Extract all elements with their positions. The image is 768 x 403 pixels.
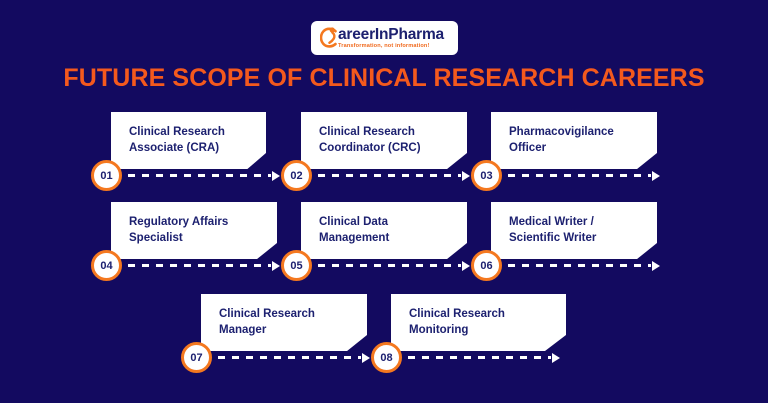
step-card[interactable]: Clinical Research Manager (201, 294, 367, 351)
infographic-canvas: areerInPharma Transformation, not inform… (0, 0, 768, 403)
arrow-head-icon (552, 353, 560, 363)
arrow-dashed-line (318, 264, 461, 267)
arrow-head-icon (362, 353, 370, 363)
arrow-dashed-line (128, 264, 271, 267)
step-card-label: Clinical Research Associate (CRA) (111, 112, 266, 157)
step-card-label: Clinical Research Coordinator (CRC) (301, 112, 467, 157)
step-arrow (318, 174, 470, 177)
page-title: FUTURE SCOPE OF CLINICAL RESEARCH CAREER… (0, 64, 768, 93)
arrow-dashed-line (218, 356, 361, 359)
step-card[interactable]: Clinical Research Monitoring (391, 294, 566, 351)
arrow-dashed-line (318, 174, 461, 177)
logo-tagline: Transformation, not information! (338, 44, 444, 50)
arrow-dashed-line (508, 174, 651, 177)
step-card[interactable]: Regulatory Affairs Specialist (111, 202, 277, 259)
step-arrow (508, 264, 660, 267)
step-number-badge: 01 (91, 160, 122, 191)
step-card-label: Medical Writer / Scientific Writer (491, 202, 657, 247)
step-number-badge: 08 (371, 342, 402, 373)
arrow-head-icon (462, 171, 470, 181)
step-number-badge: 06 (471, 250, 502, 281)
step-card[interactable]: Medical Writer / Scientific Writer (491, 202, 657, 259)
arrow-head-icon (462, 261, 470, 271)
step-card-label: Clinical Research Manager (201, 294, 367, 339)
logo-wordmark: areerInPharma (338, 27, 444, 43)
step-number-badge: 04 (91, 250, 122, 281)
step-arrow (508, 174, 660, 177)
arrow-head-icon (272, 261, 280, 271)
arrow-dashed-line (128, 174, 271, 177)
arrow-dashed-line (408, 356, 551, 359)
step-number-badge: 02 (281, 160, 312, 191)
step-card[interactable]: Clinical Research Coordinator (CRC) (301, 112, 467, 169)
step-card-label: Pharmacovigilance Officer (491, 112, 657, 157)
step-card[interactable]: Clinical Research Associate (CRA) (111, 112, 266, 169)
step-arrow (318, 264, 470, 267)
step-arrow (408, 356, 560, 359)
step-arrow (128, 174, 280, 177)
step-card-label: Clinical Research Monitoring (391, 294, 566, 339)
arrow-head-icon (272, 171, 280, 181)
step-number-badge: 07 (181, 342, 212, 373)
arrow-dashed-line (508, 264, 651, 267)
step-card-label: Regulatory Affairs Specialist (111, 202, 277, 247)
step-number-badge: 05 (281, 250, 312, 281)
careerinpharma-c-figure-icon (320, 26, 339, 50)
step-card[interactable]: Pharmacovigilance Officer (491, 112, 657, 169)
arrow-head-icon (652, 261, 660, 271)
brand-logo: areerInPharma Transformation, not inform… (311, 21, 458, 55)
arrow-head-icon (652, 171, 660, 181)
step-arrow (218, 356, 370, 359)
step-number-badge: 03 (471, 160, 502, 191)
step-card-label: Clinical Data Management (301, 202, 467, 247)
step-arrow (128, 264, 280, 267)
step-card[interactable]: Clinical Data Management (301, 202, 467, 259)
